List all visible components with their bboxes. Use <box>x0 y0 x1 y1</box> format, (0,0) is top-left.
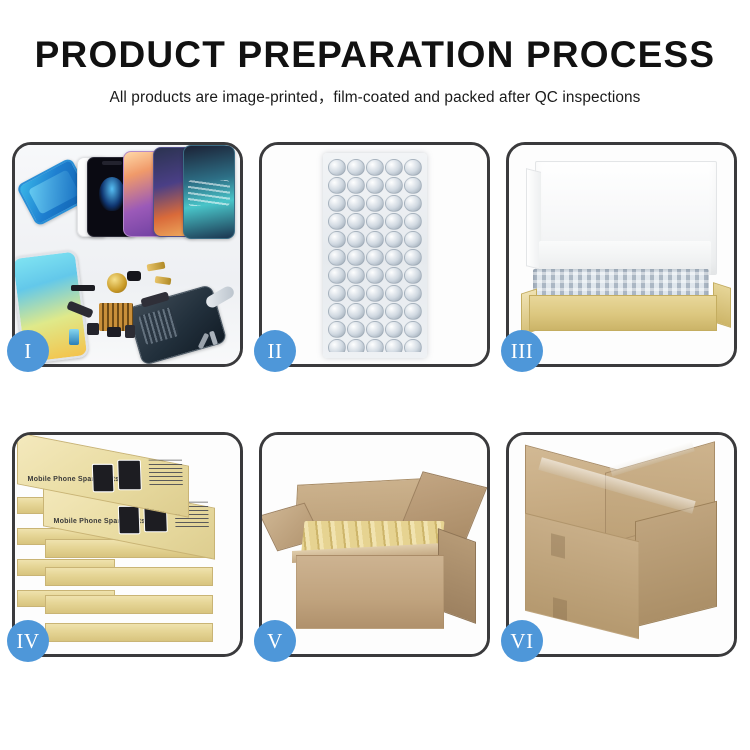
bubble <box>328 321 346 338</box>
small-part-icon <box>125 325 135 338</box>
bubble <box>404 339 422 352</box>
bubble <box>385 195 403 212</box>
bubble <box>385 339 403 352</box>
step-4-image: Mobile Phone Spare Parts Mobile Phone Sp… <box>15 435 240 654</box>
bubble <box>385 213 403 230</box>
process-step-5: V <box>259 432 490 657</box>
bubble <box>404 231 422 248</box>
step-3-image <box>509 145 734 364</box>
bubble <box>404 321 422 338</box>
bubble <box>347 195 365 212</box>
teal-phone-icon <box>183 145 235 239</box>
bubble <box>366 249 384 266</box>
bubble <box>328 213 346 230</box>
bubble <box>385 285 403 302</box>
battery-part-icon <box>69 329 79 345</box>
box-label-back: Mobile Phone Spare Parts <box>19 450 188 501</box>
bubble <box>366 339 384 352</box>
bubble <box>366 177 384 194</box>
bubble <box>328 195 346 212</box>
bubble <box>347 303 365 320</box>
step-badge-3: III <box>501 330 543 372</box>
bubble-wrap-sheet-icon <box>323 153 427 358</box>
page-title: PRODUCT PREPARATION PROCESS <box>0 36 750 75</box>
box-label-phone-image <box>92 464 115 493</box>
bubble <box>347 159 365 176</box>
bubble <box>366 303 384 320</box>
process-step-3: III <box>506 142 737 367</box>
bubble <box>328 159 346 176</box>
bubble <box>404 303 422 320</box>
bubble <box>347 213 365 230</box>
bubble <box>366 195 384 212</box>
bubble <box>404 267 422 284</box>
step-badge-2: II <box>254 330 296 372</box>
process-step-grid: I II III <box>12 142 738 657</box>
bubble <box>366 213 384 230</box>
carton-seam-icon <box>553 597 567 620</box>
bubble <box>385 159 403 176</box>
bubble <box>347 249 365 266</box>
process-step-6: VI <box>506 432 737 657</box>
step-badge-1: I <box>7 330 49 372</box>
bubble <box>347 267 365 284</box>
kraft-box-front-icon <box>529 295 717 331</box>
bubble <box>385 321 403 338</box>
bubble <box>404 213 422 230</box>
bubble <box>328 267 346 284</box>
bubble <box>366 321 384 338</box>
bubble <box>385 177 403 194</box>
speaker-part-icon <box>71 285 95 291</box>
step-badge-4: IV <box>7 620 49 662</box>
step-badge-6: VI <box>501 620 543 662</box>
bubble <box>347 339 365 352</box>
bubble <box>385 249 403 266</box>
bubble <box>404 159 422 176</box>
bubble-grid <box>328 159 422 352</box>
box-label-phone-image <box>118 506 141 535</box>
step-2-image <box>262 145 487 364</box>
bubble <box>385 303 403 320</box>
bubble <box>366 159 384 176</box>
small-part-icon <box>87 323 99 335</box>
bubble <box>347 285 365 302</box>
carton-side-panel-icon <box>635 501 717 627</box>
box-stack: Mobile Phone Spare Parts Mobile Phone Sp… <box>15 435 240 654</box>
carton-front-panel-icon <box>296 555 444 629</box>
bubble <box>404 195 422 212</box>
stacked-box <box>45 567 213 586</box>
bubble <box>366 267 384 284</box>
bubble <box>385 231 403 248</box>
process-step-2: II <box>259 142 490 367</box>
coil-part-icon <box>107 273 127 293</box>
step-5-image <box>262 435 487 654</box>
page-subtitle: All products are image-printed，film-coat… <box>0 85 750 107</box>
bubble <box>404 285 422 302</box>
bubble <box>328 285 346 302</box>
step-6-image <box>509 435 734 654</box>
bubble <box>366 231 384 248</box>
bubble <box>328 249 346 266</box>
process-step-1: I <box>12 142 243 367</box>
bubble <box>347 177 365 194</box>
bubble <box>385 267 403 284</box>
bubble <box>328 339 346 352</box>
bubble <box>328 231 346 248</box>
step-1-image <box>15 145 240 364</box>
box-label-phone-image <box>117 460 142 491</box>
header: PRODUCT PREPARATION PROCESS All products… <box>0 0 750 107</box>
carton-seam-icon <box>551 533 565 558</box>
bubble <box>347 321 365 338</box>
bubble <box>404 249 422 266</box>
bubble <box>366 285 384 302</box>
small-part-icon <box>107 327 121 337</box>
stacked-box <box>45 595 213 614</box>
box-label-spec-lines <box>149 460 183 486</box>
bubble <box>328 303 346 320</box>
bubble <box>347 231 365 248</box>
process-step-4: Mobile Phone Spare Parts Mobile Phone Sp… <box>12 432 243 657</box>
bubble <box>404 177 422 194</box>
stacked-box <box>45 623 213 642</box>
camera-module-icon <box>127 271 141 281</box>
bubble <box>328 177 346 194</box>
step-badge-5: V <box>254 620 296 662</box>
